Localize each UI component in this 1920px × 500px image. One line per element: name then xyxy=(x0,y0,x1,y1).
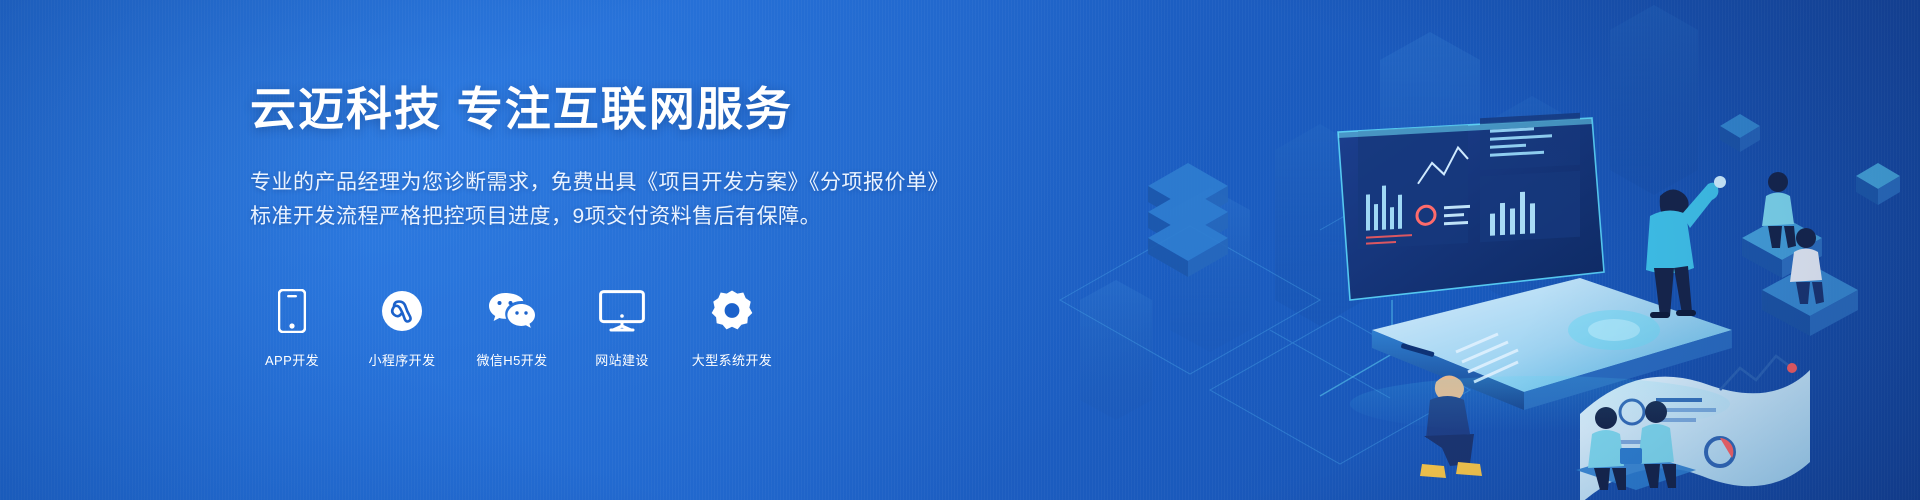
hero-banner: 云迈科技 专注互联网服务 专业的产品经理为您诊断需求，免费出具《项目开发方案》《… xyxy=(0,0,1920,500)
page-title: 云迈科技 专注互联网服务 xyxy=(250,82,1090,136)
isometric-tech-illustration xyxy=(1020,0,1920,500)
mini-program-icon xyxy=(381,288,423,334)
wechat-icon xyxy=(488,288,536,334)
service-item-wechat-h5[interactable]: 微信H5开发 xyxy=(470,288,554,369)
banner-copy: 云迈科技 专注互联网服务 专业的产品经理为您诊断需求，免费出具《项目开发方案》《… xyxy=(250,82,1090,234)
service-label: 小程序开发 xyxy=(368,350,435,369)
subtitle-line-2: 标准开发流程严格把控项目进度，9项交付资料售后有保障。 xyxy=(250,200,1090,234)
service-label: APP开发 xyxy=(265,350,319,369)
service-label: 微信H5开发 xyxy=(476,350,547,369)
subtitle-line-1: 专业的产品经理为您诊断需求，免费出具《项目开发方案》《分项报价单》 xyxy=(250,166,1090,200)
service-item-app[interactable]: APP开发 xyxy=(250,288,334,369)
service-list: APP开发 小程序开发 xyxy=(250,288,774,369)
service-label: 大型系统开发 xyxy=(692,350,772,369)
service-label: 网站建设 xyxy=(595,350,649,369)
gear-icon xyxy=(710,288,754,334)
desktop-monitor-icon xyxy=(599,288,645,334)
service-item-website[interactable]: 网站建设 xyxy=(580,288,664,369)
mobile-phone-icon xyxy=(278,288,306,334)
service-item-large-system[interactable]: 大型系统开发 xyxy=(690,288,774,369)
service-item-mini-program[interactable]: 小程序开发 xyxy=(360,288,444,369)
